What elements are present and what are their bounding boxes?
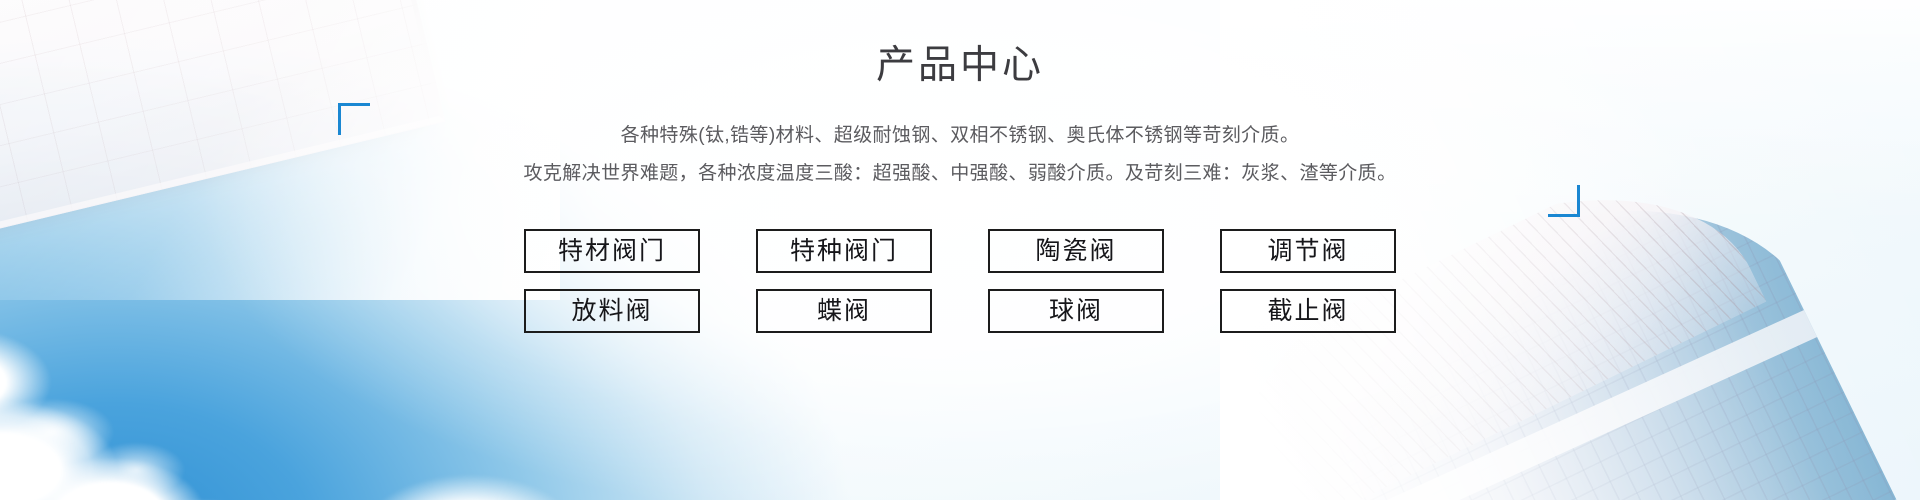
description-line-2: 攻克解决世界难题，各种浓度温度三酸：超强酸、中强酸、弱酸介质。及苛刻三难：灰浆、… [384, 155, 1536, 193]
corner-bracket-top-left-icon [338, 103, 370, 135]
category-button-special-valve[interactable]: 特种阀门 [756, 229, 932, 273]
category-button-discharge-valve[interactable]: 放料阀 [524, 289, 700, 333]
category-button-butterfly-valve[interactable]: 蝶阀 [756, 289, 932, 333]
category-button-ceramic-valve[interactable]: 陶瓷阀 [988, 229, 1164, 273]
category-button-globe-valve[interactable]: 截止阀 [1220, 289, 1396, 333]
category-button-control-valve[interactable]: 调节阀 [1220, 229, 1396, 273]
category-button-tecai-valve[interactable]: 特材阀门 [524, 229, 700, 273]
description-line-1: 各种特殊(钛,锆等)材料、超级耐蚀钢、双相不锈钢、奥氏体不锈钢等苛刻介质。 [384, 117, 1536, 155]
description-block: 各种特殊(钛,锆等)材料、超级耐蚀钢、双相不锈钢、奥氏体不锈钢等苛刻介质。 攻克… [350, 111, 1570, 203]
category-button-ball-valve[interactable]: 球阀 [988, 289, 1164, 333]
product-category-grid: 特材阀门 特种阀门 陶瓷阀 调节阀 放料阀 蝶阀 球阀 截止阀 [524, 229, 1396, 333]
product-center-banner: 产品中心 各种特殊(钛,锆等)材料、超级耐蚀钢、双相不锈钢、奥氏体不锈钢等苛刻介… [0, 0, 1920, 500]
banner-content: 产品中心 各种特殊(钛,锆等)材料、超级耐蚀钢、双相不锈钢、奥氏体不锈钢等苛刻介… [0, 0, 1920, 500]
page-title: 产品中心 [876, 46, 1044, 85]
corner-bracket-bottom-right-icon [1548, 185, 1580, 217]
